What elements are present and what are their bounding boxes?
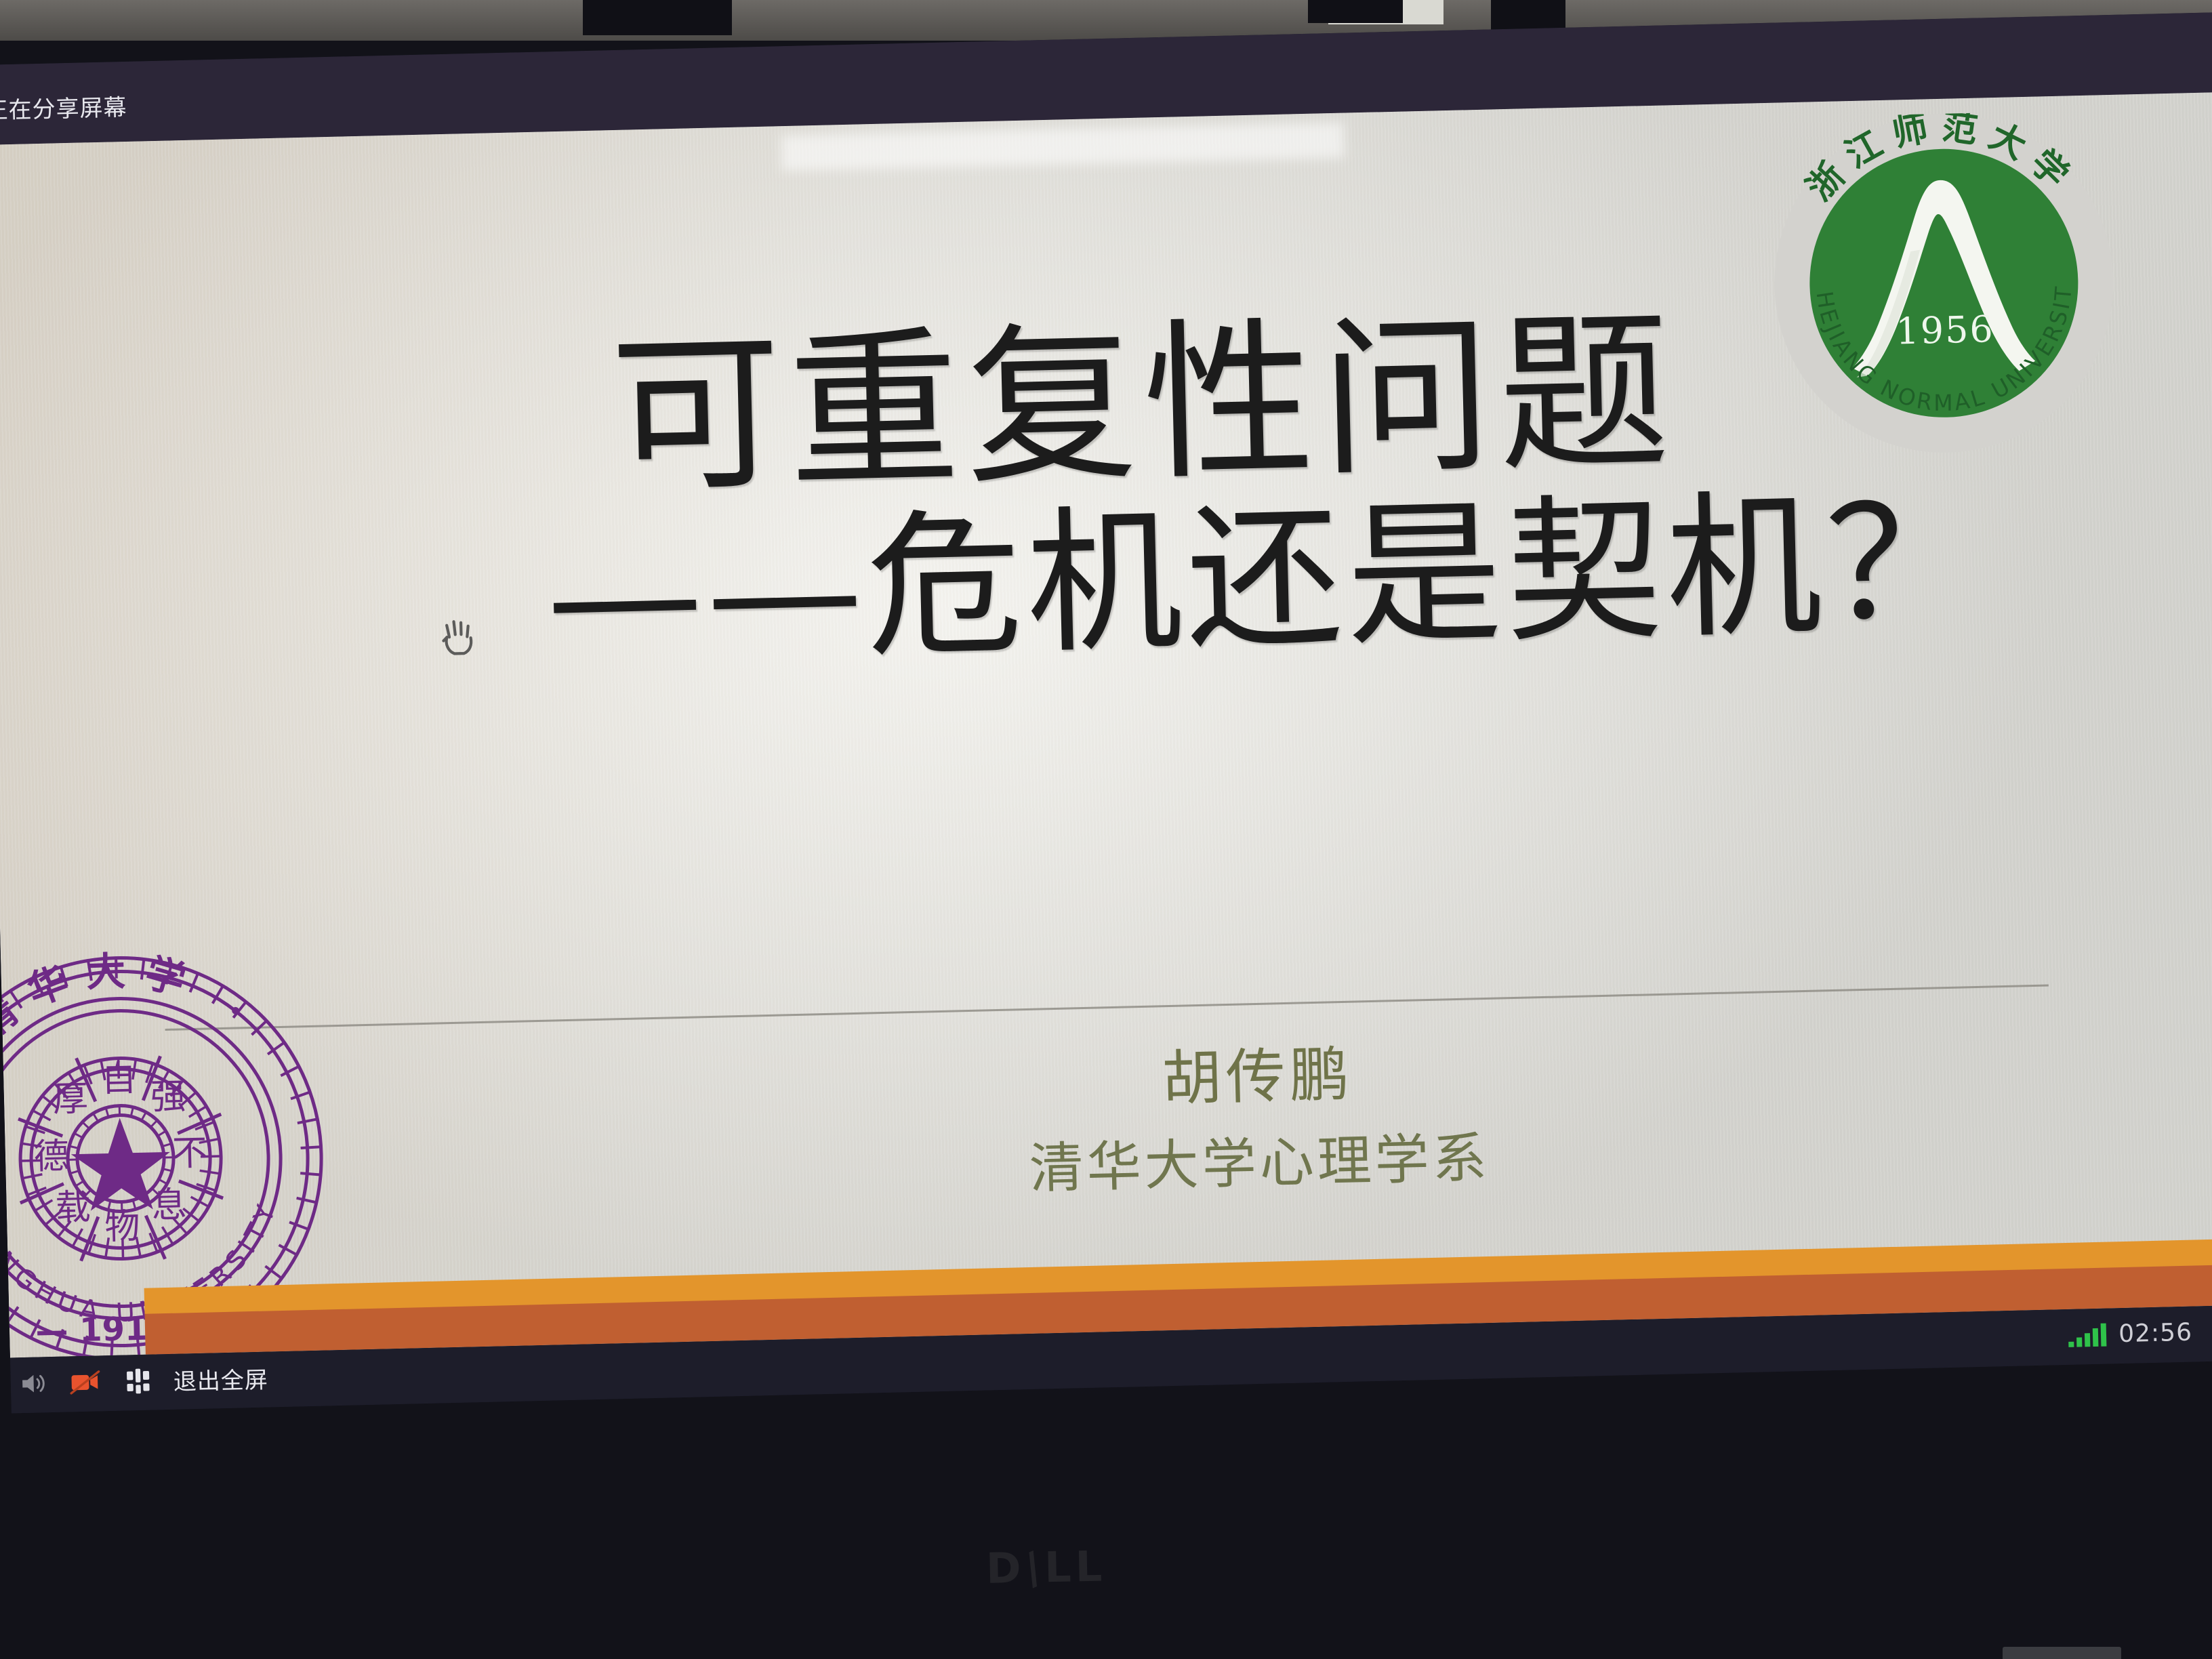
sharing-status-label: 正在分享屏幕: [0, 89, 127, 125]
ceiling-shadow-block: [1308, 0, 1403, 23]
screen-area: 正在分享屏幕 1956: [0, 12, 2212, 1413]
grid-view-icon[interactable]: [123, 1366, 153, 1396]
meeting-timer: 02:56: [2118, 1319, 2193, 1349]
monitor-sticker: [2003, 1647, 2121, 1659]
ceiling-shadow-block: [583, 0, 732, 35]
seal-motto-char: 自: [101, 1059, 137, 1100]
seal-motto-char: 载: [55, 1187, 91, 1229]
video-off-icon[interactable]: [67, 1367, 103, 1397]
ceiling-shadow-block: [1491, 0, 1565, 30]
signal-bars-icon: [2068, 1323, 2107, 1347]
svg-text:浙江师范大学: 浙江师范大学: [1797, 110, 2085, 209]
seal-motto-char: 德: [33, 1136, 69, 1177]
dell-logo: D∕LL: [985, 1540, 1189, 1591]
seal-motto-char: 强: [150, 1076, 186, 1118]
seal-motto-char: 厚: [52, 1079, 88, 1120]
monitor-photo: D∕LL 正在分享屏幕 1956: [0, 0, 2212, 1659]
presentation-slide[interactable]: 1956 浙江师范大学 ZHEJIANG NORMAL UNIVERSITY: [0, 91, 2212, 1357]
seal-motto-char: 息: [151, 1185, 187, 1226]
seal-motto-char: 不: [171, 1133, 207, 1174]
seal-motto-char: 物: [104, 1206, 140, 1248]
grab-hand-cursor: [434, 608, 483, 659]
exit-fullscreen-label[interactable]: 退出全屏: [173, 1361, 268, 1397]
slide-title-block: 可重复性问题 ——危机还是契机？: [0, 288, 2212, 697]
speaker-icon[interactable]: [17, 1368, 47, 1399]
